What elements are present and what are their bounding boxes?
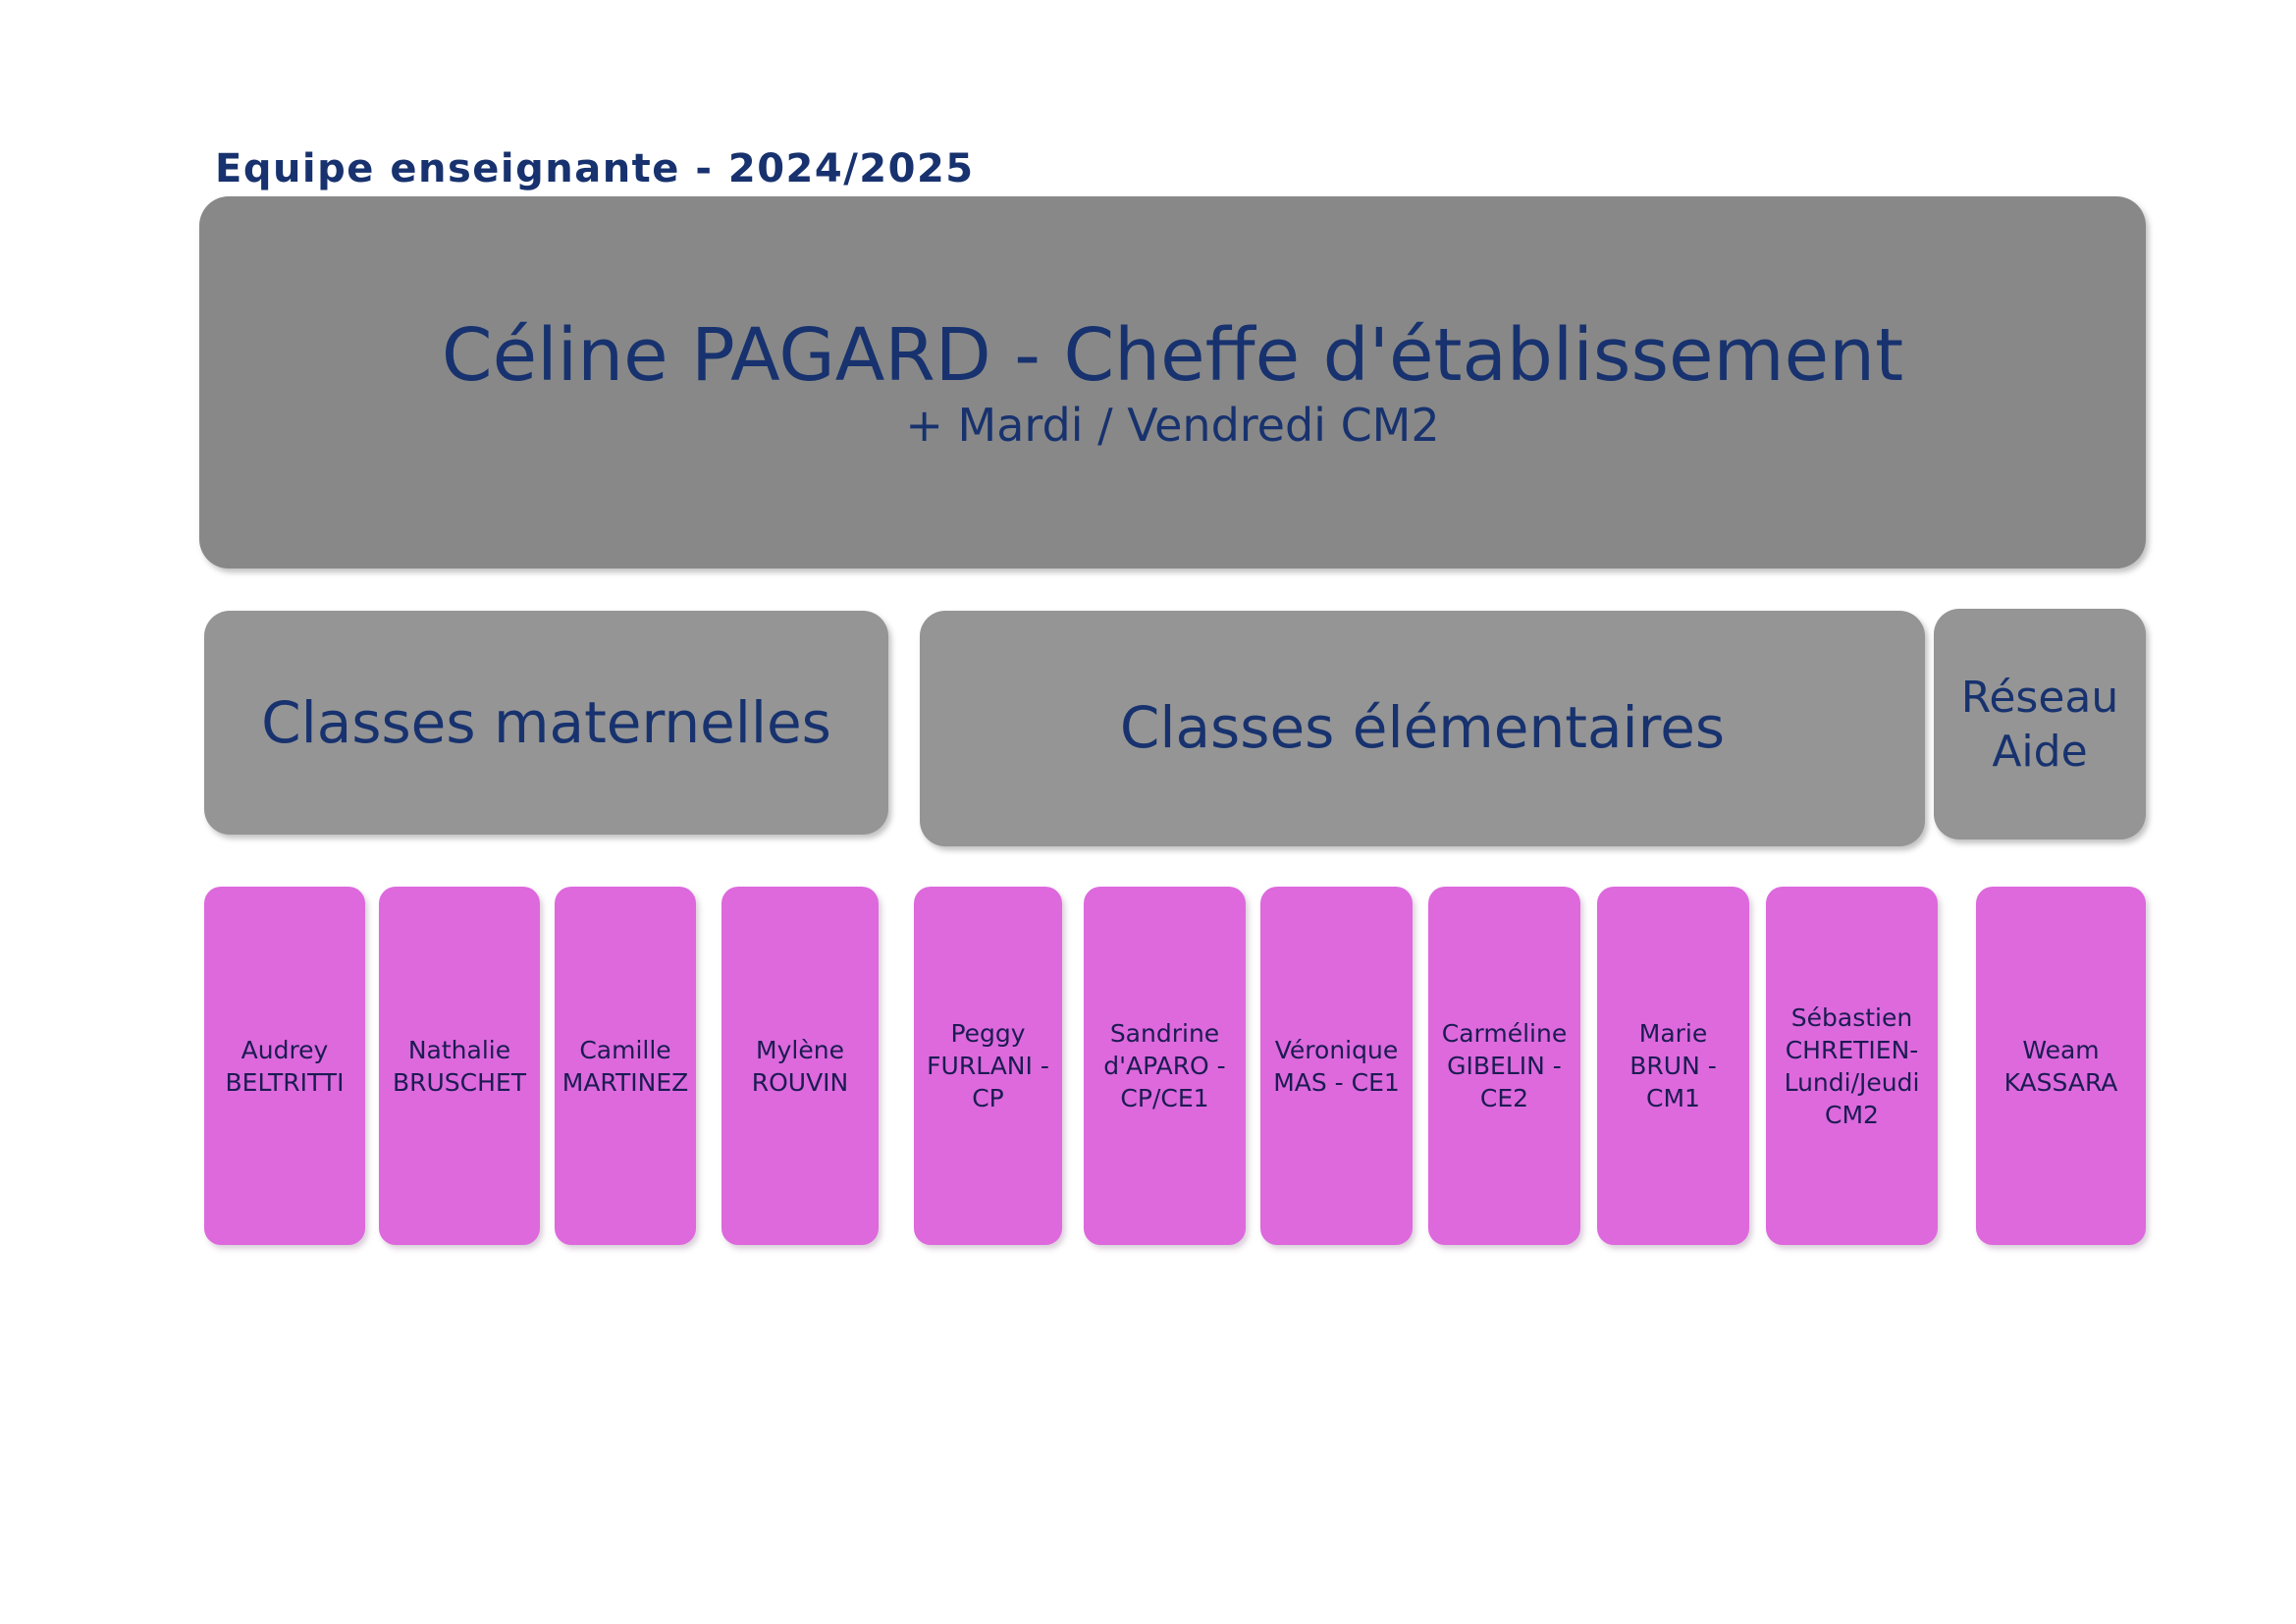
staff-card-label: Véronique MAS - CE1 (1267, 1034, 1406, 1099)
staff-card-label: Mylène ROUVIN (746, 1034, 855, 1099)
staff-card-label: Audrey BELTRITTI (220, 1034, 350, 1099)
category-box-classes-maternelles: Classes maternelles (204, 611, 888, 835)
head-of-school-text-wrap: Céline PAGARD - Cheffe d'établissement +… (199, 313, 2146, 453)
staff-card: Sébastien CHRETIEN- Lundi/Jeudi CM2 (1766, 887, 1938, 1245)
staff-card: Peggy FURLANI - CP (914, 887, 1062, 1245)
staff-card-label: Marie BRUN - CM1 (1624, 1017, 1723, 1114)
category-label-classes-elementaires: Classes élémentaires (1106, 694, 1738, 763)
staff-card: Mylène ROUVIN (721, 887, 879, 1245)
staff-card-label: Sébastien CHRETIEN- Lundi/Jeudi CM2 (1779, 1001, 1926, 1131)
head-of-school-name-role: Céline PAGARD - Cheffe d'établissement (442, 313, 1903, 398)
staff-card-label: Nathalie BRUSCHET (387, 1034, 532, 1099)
staff-card: Camille MARTINEZ (555, 887, 696, 1245)
category-box-reseau-aide: Réseau Aide (1934, 609, 2146, 839)
page-title: Equipe enseignante - 2024/2025 (215, 149, 975, 189)
staff-card: Carméline GIBELIN - CE2 (1428, 887, 1580, 1245)
category-label-classes-maternelles: Classes maternelles (247, 688, 845, 758)
staff-card: Véronique MAS - CE1 (1260, 887, 1413, 1245)
staff-card-label: Camille MARTINEZ (557, 1034, 695, 1099)
staff-card-label: Peggy FURLANI - CP (921, 1017, 1055, 1114)
staff-card: Sandrine d'APARO - CP/CE1 (1084, 887, 1246, 1245)
staff-card-label: Carméline GIBELIN - CE2 (1436, 1017, 1573, 1114)
staff-card: Marie BRUN - CM1 (1597, 887, 1749, 1245)
staff-card-label: Sandrine d'APARO - CP/CE1 (1097, 1017, 1231, 1114)
head-of-school-extra-duty: + Mardi / Vendredi CM2 (905, 399, 1439, 452)
staff-card: Weam KASSARA (1976, 887, 2146, 1245)
category-box-classes-elementaires: Classes élémentaires (920, 611, 1925, 846)
category-label-reseau-aide: Réseau Aide (1934, 671, 2146, 779)
staff-card: Audrey BELTRITTI (204, 887, 365, 1245)
head-of-school-box: Céline PAGARD - Cheffe d'établissement +… (199, 196, 2146, 568)
staff-card: Nathalie BRUSCHET (379, 887, 540, 1245)
staff-card-label: Weam KASSARA (1999, 1034, 2124, 1099)
